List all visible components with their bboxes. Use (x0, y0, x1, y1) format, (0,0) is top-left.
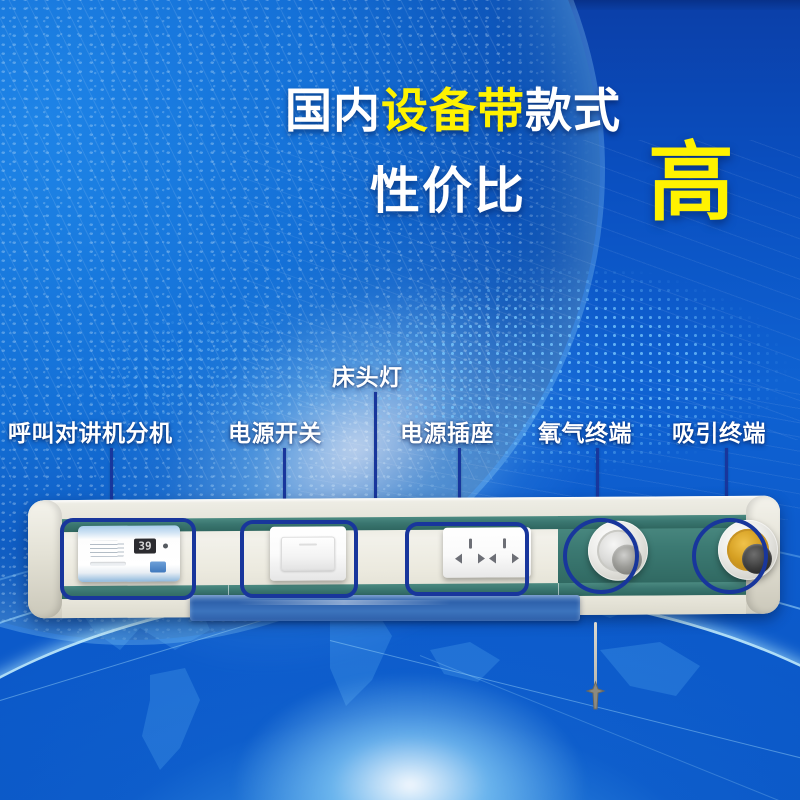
headline-group: 国内设备带款式 性价比 (285, 88, 705, 135)
headline-big-word: 高 (648, 140, 734, 226)
pull-cord-weight-icon (582, 680, 609, 712)
highlight-box-power-socket (405, 522, 529, 596)
headline-seg-1: 国内 (285, 84, 381, 139)
headline-seg-2-highlight: 设备带 (381, 84, 525, 139)
callout-label-bed-light: 床头灯 (332, 358, 403, 392)
highlight-box-intercom (60, 518, 196, 600)
headline-seg-3: 款式 (525, 84, 621, 139)
callout-label-suction: 吸引终端 (672, 414, 766, 448)
highlight-circle-suction (692, 518, 768, 594)
callout-label-power-switch: 电源开关 (228, 414, 322, 448)
highlight-box-power-switch (240, 520, 358, 598)
headline-line-1: 国内设备带款式 (285, 88, 705, 135)
callout-label-power-socket: 电源插座 (400, 414, 494, 448)
promo-banner: 国内设备带款式 性价比 高 呼叫对讲机分机 电源开关 床头灯 电源插座 氧气终端… (0, 0, 800, 800)
bed-light-diffuser[interactable] (190, 595, 580, 621)
callout-label-oxygen: 氧气终端 (538, 414, 632, 448)
panel-end-cap-left (28, 500, 62, 618)
highlight-circle-oxygen (563, 518, 639, 594)
callout-label-intercom: 呼叫对讲机分机 (8, 414, 173, 448)
headline-line-2: 性价比 (370, 166, 526, 216)
